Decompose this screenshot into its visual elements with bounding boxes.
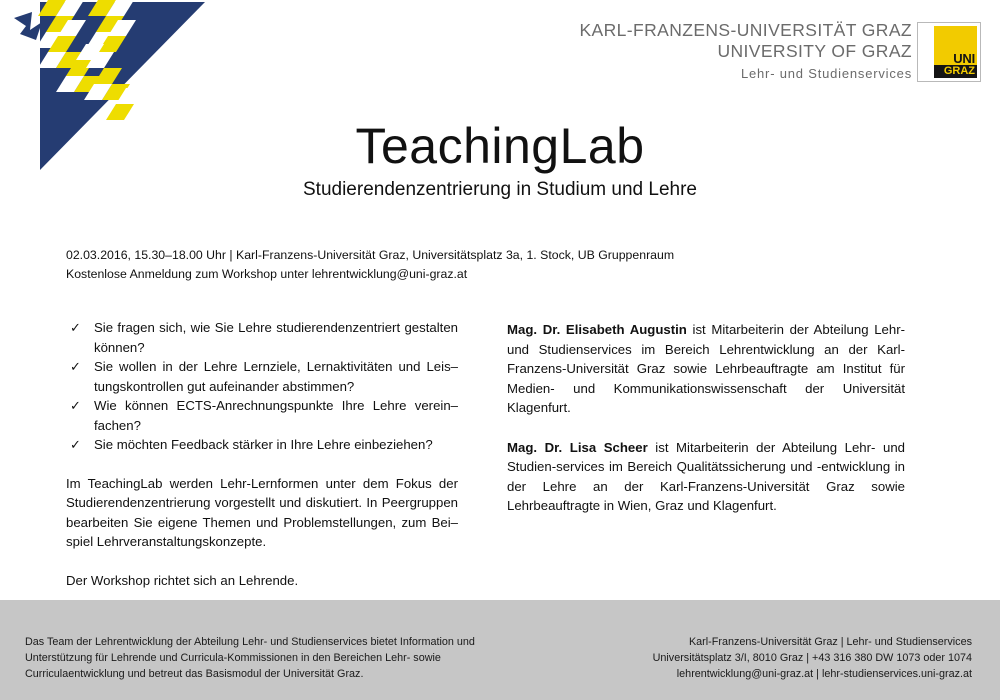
list-item: ✓ Sie wollen in der Lehre Lernziele, Ler… [66,357,458,396]
footer-right-line-2: Universitätsplatz 3/I, 8010 Graz | +43 3… [552,650,972,666]
presenter-bio-scheer: Mag. Dr. Lisa Scheer ist Mitarbeiterin d… [507,438,905,516]
badge-graz-text: GRAZ [944,65,975,78]
event-datetime-location: 02.03.2016, 15.30–18.00 Uhr | Karl-Franz… [66,246,674,265]
checkmark-icon: ✓ [70,435,81,455]
list-item-label: Sie möchten Feedback stärker in Ihre Leh… [94,437,433,452]
footer-left-line-1: Das Team der Lehrentwicklung der Abteilu… [25,634,475,650]
left-content-column: ✓ Sie fragen sich, wie Sie Lehre studier… [66,318,458,590]
uni-graz-logo-badge: UNI GRAZ [917,22,981,82]
page-subtitle: Studierendenzentrierung in Studium und L… [0,178,1000,202]
footer-right-line-3: lehrentwicklung@uni-graz.at | lehr-studi… [552,666,972,682]
event-registration-info: Kostenlose Anmeldung zum Workshop unter … [66,265,674,284]
presenter-bio-augustin: Mag. Dr. Elisabeth Augustin ist Mitarbei… [507,320,905,418]
list-item-label: Sie wollen in der Lehre Lernziele, Lerna… [94,359,458,394]
university-wordmark: KARL-FRANZENS-UNIVERSITÄT GRAZ UNIVERSIT… [579,20,912,84]
footer-band: Das Team der Lehrentwicklung der Abteilu… [0,600,1000,700]
question-checklist: ✓ Sie fragen sich, wie Sie Lehre studier… [66,318,458,455]
list-item: ✓ Sie möchten Feedback stärker in Ihre L… [66,435,458,455]
list-item: ✓ Sie fragen sich, wie Sie Lehre studier… [66,318,458,357]
event-details: 02.03.2016, 15.30–18.00 Uhr | Karl-Franz… [66,246,674,284]
list-item: ✓ Wie können ECTS-Anrechnungspunkte Ihre… [66,396,458,435]
footer-team-description: Das Team der Lehrentwicklung der Abteilu… [25,634,475,682]
checkmark-icon: ✓ [70,396,81,416]
university-name-english: UNIVERSITY OF GRAZ [579,41,912,62]
workshop-description-paragraph: Im TeachingLab werden Lehr-Lernformen un… [66,474,458,552]
checkmark-icon: ✓ [70,318,81,338]
presenter-name: Mag. Dr. Lisa Scheer [507,440,648,455]
page-title: TeachingLab [0,118,1000,174]
footer-left-line-3: Curriculaentwicklung und betreut das Bas… [25,666,475,682]
badge-uni-text: UNI [953,52,975,65]
footer-contact-details: Karl-Franzens-Universität Graz | Lehr- u… [552,634,972,682]
list-item-label: Sie fragen sich, wie Sie Lehre studieren… [94,320,458,355]
checkmark-icon: ✓ [70,357,81,377]
right-content-column: Mag. Dr. Elisabeth Augustin ist Mitarbei… [507,320,905,516]
list-item-label: Wie können ECTS-Anrechnungspunkte Ihre L… [94,398,458,433]
presenter-name: Mag. Dr. Elisabeth Augustin [507,322,687,337]
department-name: Lehr- und Studienservices [579,64,912,84]
footer-left-line-2: Unterstützung für Lehrende und Curricula… [25,650,475,666]
workshop-audience-paragraph: Der Workshop richtet sich an Lehrende. [66,571,458,591]
title-section: TeachingLab Studierendenzentrierung in S… [0,118,1000,202]
footer-right-line-1: Karl-Franzens-Universität Graz | Lehr- u… [552,634,972,650]
university-name-german: KARL-FRANZENS-UNIVERSITÄT GRAZ [579,20,912,41]
logo-star-notch [14,12,42,40]
